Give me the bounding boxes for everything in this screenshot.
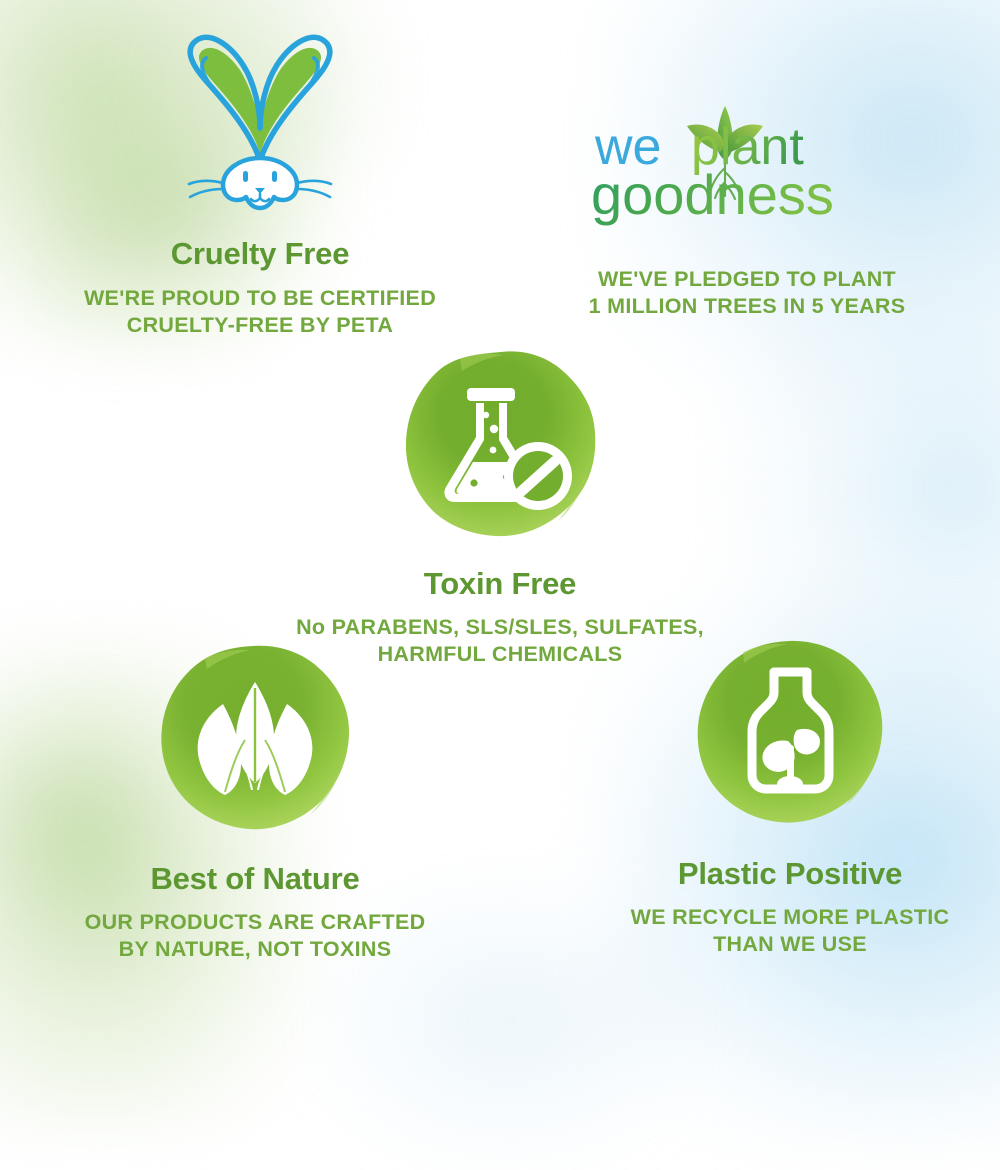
badge-subtitle-line: OUR PRODUCTS ARE CRAFTED [20,909,490,936]
badge-subtitle-line: THAN WE USE [555,931,1000,958]
badge-title-plastic-positive: Plastic Positive [555,856,1000,892]
badge-subtitle-cruelty-free: WE'RE PROUD TO BE CERTIFIED CRUELTY-FREE… [25,285,495,338]
badge-toxin-free: Toxin Free No PARABENS, SLS/SLES, SULFAT… [265,345,735,667]
badge-subtitle-best-of-nature: OUR PRODUCTS ARE CRAFTED BY NATURE, NOT … [20,909,490,962]
badge-subtitle-we-plant-goodness: WE'VE PLEDGED TO PLANT 1 MILLION TREES I… [512,266,982,319]
bottle-sprout-icon [688,635,893,840]
peta-bunny-icon [145,28,375,218]
badge-subtitle-line: WE RECYCLE MORE PLASTIC [555,904,1000,931]
bunny-eye-left [243,171,248,182]
three-leaves-icon [153,640,358,845]
badge-subtitle-line: WE'RE PROUD TO BE CERTIFIED [25,285,495,312]
badge-we-plant-goodness: we plant goodness WE'VE PLEDGED TO PLANT… [512,92,982,319]
bunny-eye-right [272,171,277,182]
logo-word-goodness: goodness [591,163,834,226]
no-chemicals-flask-icon [398,345,603,550]
badge-title-cruelty-free: Cruelty Free [25,236,495,272]
badge-subtitle-line: BY NATURE, NOT TOXINS [20,936,490,963]
prohibition-icon [504,442,572,510]
badge-subtitle-line: CRUELTY-FREE BY PETA [25,312,495,339]
badge-plastic-positive: Plastic Positive WE RECYCLE MORE PLASTIC… [555,635,1000,957]
badge-cruelty-free: Cruelty Free WE'RE PROUD TO BE CERTIFIED… [25,28,495,338]
badge-subtitle-line: 1 MILLION TREES IN 5 YEARS [512,293,982,320]
badge-title-best-of-nature: Best of Nature [20,861,490,897]
we-plant-goodness-logo: we plant goodness [587,92,907,242]
badge-title-toxin-free: Toxin Free [265,566,735,602]
badge-best-of-nature: Best of Nature OUR PRODUCTS ARE CRAFTED … [20,640,490,962]
badge-subtitle-line: WE'VE PLEDGED TO PLANT [512,266,982,293]
badge-subtitle-plastic-positive: WE RECYCLE MORE PLASTIC THAN WE USE [555,904,1000,957]
